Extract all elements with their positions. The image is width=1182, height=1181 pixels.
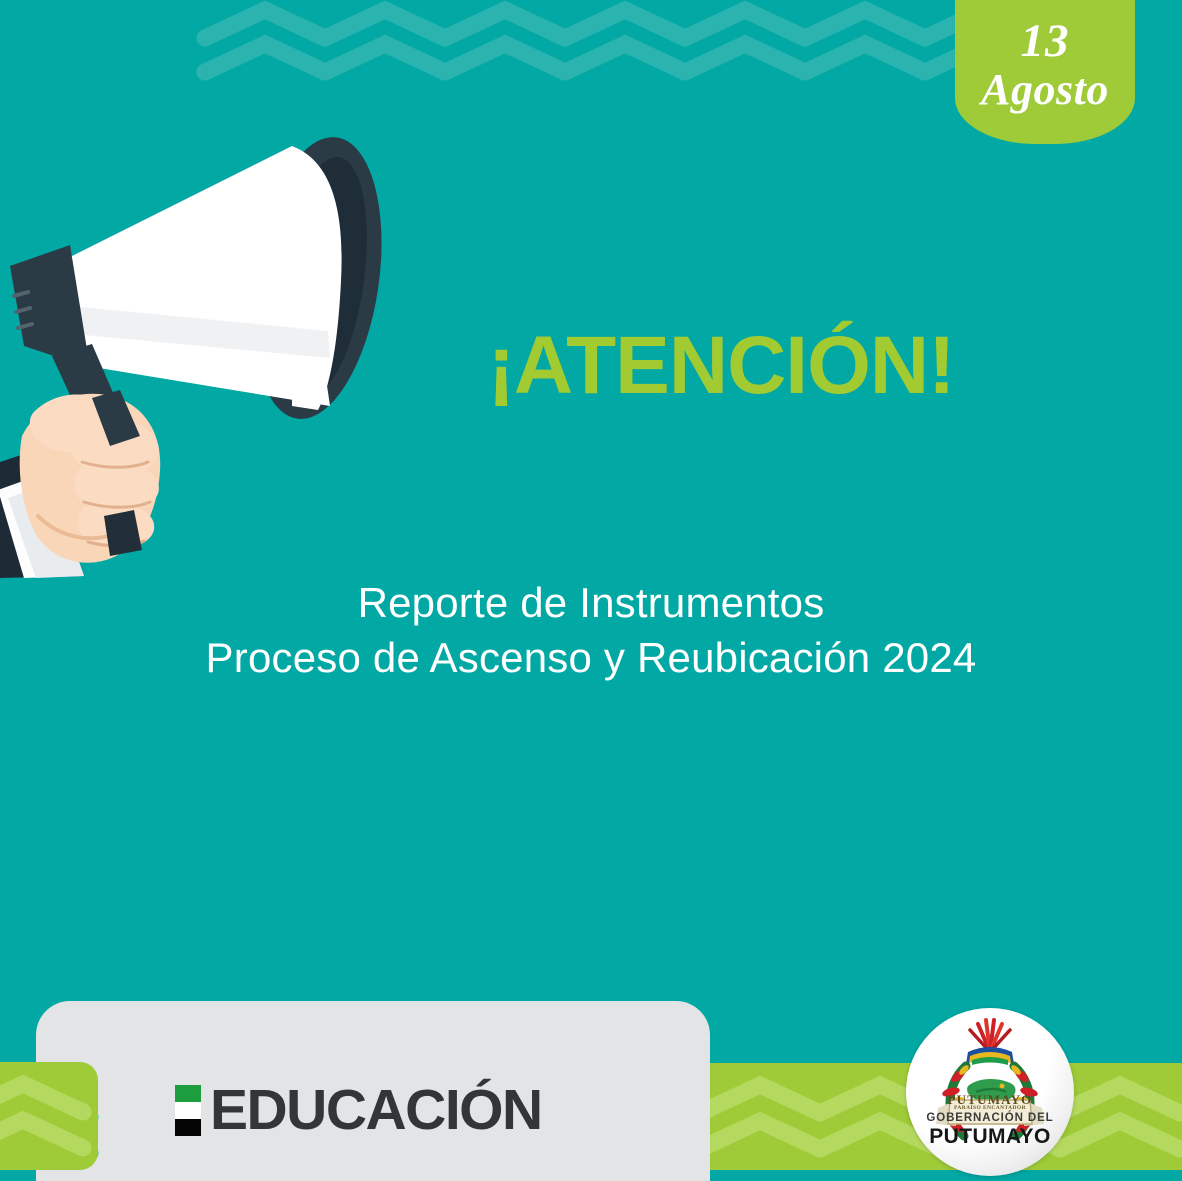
- flag-stripe-white: [175, 1102, 201, 1119]
- flag-stripe-black: [175, 1119, 201, 1136]
- date-banner: 13 Agosto: [955, 0, 1135, 144]
- date-month: Agosto: [981, 66, 1109, 114]
- seal-line-putumayo: PUTUMAYO: [906, 1125, 1074, 1149]
- educacion-wordmark: EDUCACIÓN: [210, 1082, 542, 1139]
- seal-ribbon-subtitle: PARAÍSO ENCANTADOR: [906, 1105, 1074, 1111]
- zigzag-bl-green-svg: [0, 1062, 98, 1170]
- date-day: 13: [1021, 17, 1070, 66]
- educacion-logo: EDUCACIÓN: [175, 1082, 542, 1139]
- seal-emblem-icon: PUTUMAYO PARAÍSO ENCANTADOR GOBERNACIÓN …: [906, 1008, 1074, 1176]
- zigzag-pattern-top: [195, 0, 963, 85]
- poster-canvas: 13 Agosto: [0, 0, 1182, 1181]
- headline-block: ¡ATENCIÓN!: [0, 325, 1182, 407]
- subtitle-block: Reporte de Instrumentos Proceso de Ascen…: [0, 575, 1182, 686]
- page-title: ¡ATENCIÓN!: [260, 325, 1182, 407]
- flag-icon: [175, 1085, 201, 1137]
- subtitle-line-2: Proceso de Ascenso y Reubicación 2024: [0, 630, 1182, 685]
- subtitle-line-1: Reporte de Instrumentos: [0, 575, 1182, 630]
- zigzag-pattern-bottom-left-green: [0, 1062, 98, 1170]
- flag-stripe-green: [175, 1085, 201, 1102]
- gobernacion-putumayo-seal: PUTUMAYO PARAÍSO ENCANTADOR GOBERNACIÓN …: [906, 1008, 1074, 1176]
- seal-line-gobernacion: GOBERNACIÓN DEL: [906, 1112, 1074, 1124]
- zigzag-top-svg: [195, 0, 963, 85]
